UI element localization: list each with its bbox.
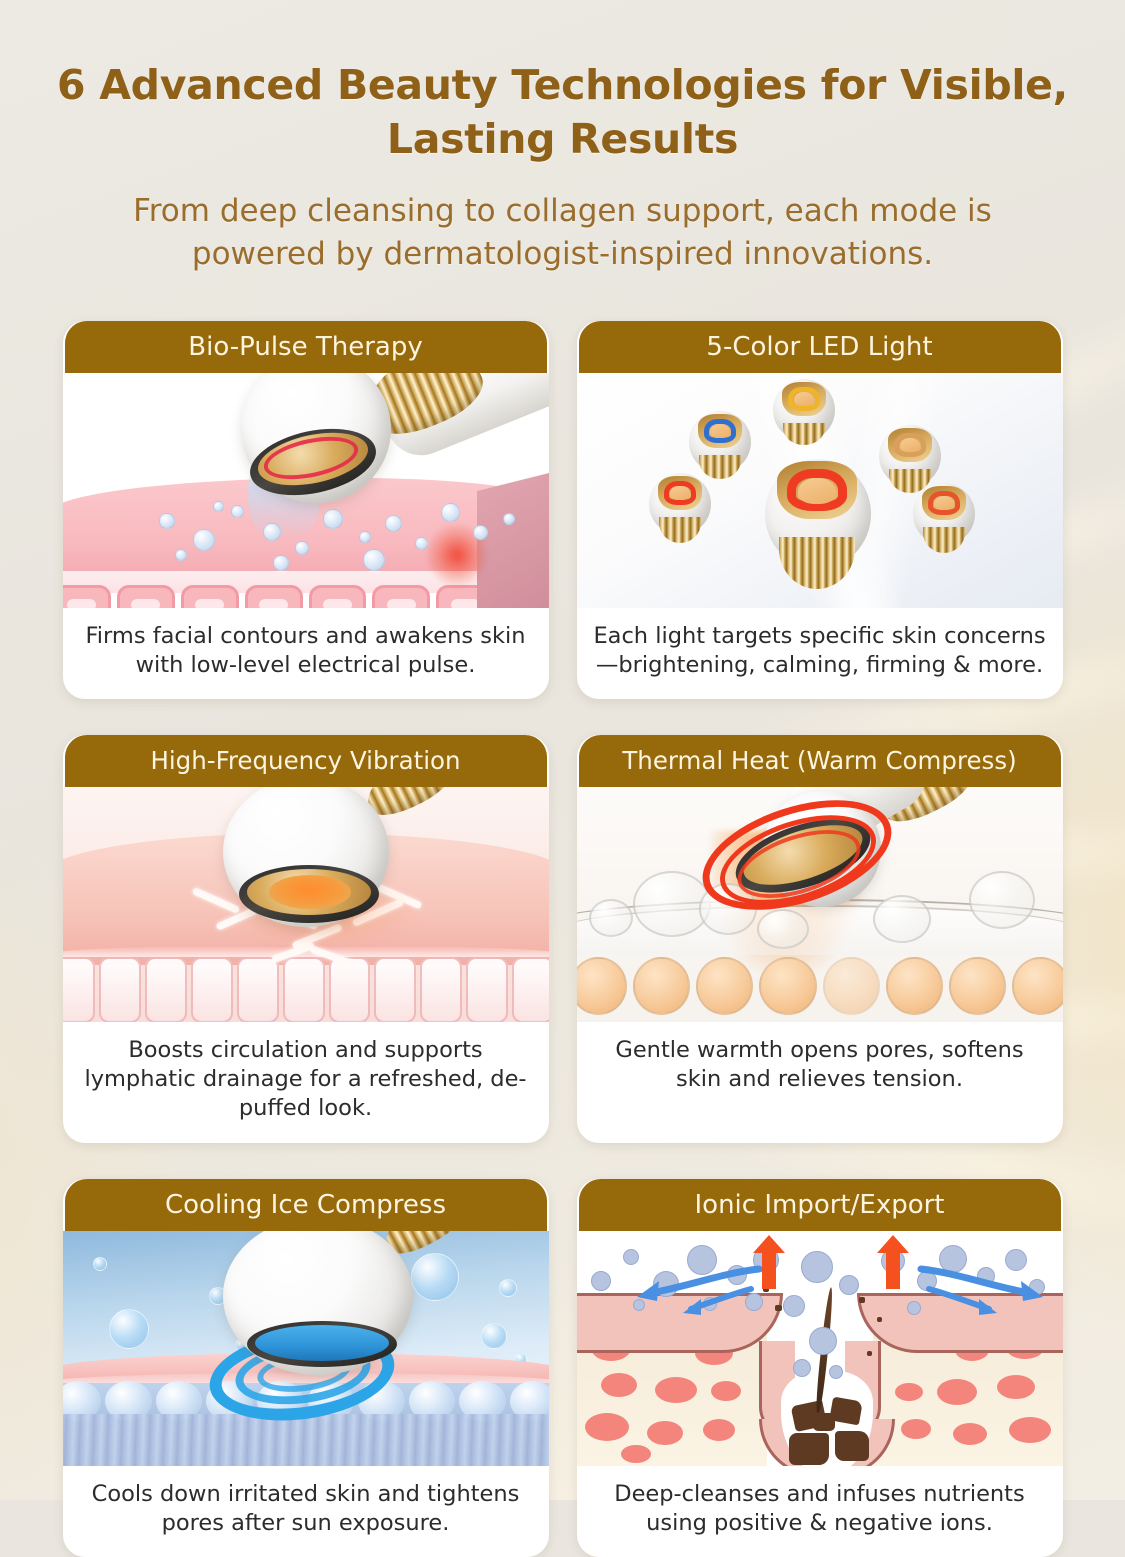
ion-flow-right-icon xyxy=(917,1259,1047,1315)
card-header-ionic-import-export: Ionic Import/Export xyxy=(579,1179,1061,1231)
card-thermal-heat[interactable]: Thermal Heat (Warm Compress) xyxy=(577,735,1063,1142)
led-head-yellow xyxy=(773,379,835,441)
card-illustration-bio-pulse-therapy xyxy=(63,373,549,608)
card-header-thermal-heat: Thermal Heat (Warm Compress) xyxy=(579,735,1061,787)
card-header-bio-pulse-therapy: Bio-Pulse Therapy xyxy=(65,321,547,373)
card-header-high-frequency-vibration: High-Frequency Vibration xyxy=(65,735,547,787)
card-title-ionic-import-export: Ionic Import/Export xyxy=(689,1192,951,1218)
card-illustration-high-frequency-vibration xyxy=(63,787,549,1022)
led-head-red-small xyxy=(649,473,711,535)
card-title-cooling-ice-compress: Cooling Ice Compress xyxy=(159,1192,452,1218)
ion-flow-left-icon xyxy=(633,1259,763,1315)
card-title-thermal-heat: Thermal Heat (Warm Compress) xyxy=(616,749,1022,774)
card-caption-bio-pulse-therapy: Firms facial contours and awakens skin w… xyxy=(63,608,549,700)
card-title-high-frequency-vibration: High-Frequency Vibration xyxy=(144,749,466,774)
card-caption-five-color-led-light: Each light targets specific skin concern… xyxy=(577,608,1063,700)
card-header-cooling-ice-compress: Cooling Ice Compress xyxy=(65,1179,547,1231)
card-caption-cooling-ice-compress: Cools down irritated skin and tightens p… xyxy=(63,1466,549,1557)
card-illustration-thermal-heat xyxy=(577,787,1063,1022)
card-caption-ionic-import-export: Deep-cleanses and infuses nutrients usin… xyxy=(577,1466,1063,1557)
export-arrow-up-icon xyxy=(877,1235,909,1289)
card-title-five-color-led-light: 5-Color LED Light xyxy=(700,334,938,360)
card-high-frequency-vibration[interactable]: High-Frequency Vibration xyxy=(63,735,549,1142)
led-head-orange xyxy=(913,483,975,545)
page-title: 6 Advanced Beauty Technologies for Visib… xyxy=(56,58,1069,166)
led-head-tan xyxy=(879,425,941,487)
technology-card-grid: Bio-Pulse Therapy xyxy=(63,321,1063,1557)
led-head-blue xyxy=(689,411,751,473)
page-header: 6 Advanced Beauty Technologies for Visib… xyxy=(0,0,1125,276)
card-ionic-import-export[interactable]: Ionic Import/Export xyxy=(577,1179,1063,1557)
card-five-color-led-light[interactable]: 5-Color LED Light xyxy=(577,321,1063,700)
card-illustration-cooling-ice-compress xyxy=(63,1231,549,1466)
led-head-main xyxy=(765,459,871,569)
glass-cell-layer xyxy=(63,957,549,1022)
card-caption-thermal-heat: Gentle warmth opens pores, softens skin … xyxy=(577,1022,1063,1114)
card-cooling-ice-compress[interactable]: Cooling Ice Compress xyxy=(63,1179,549,1557)
page-subtitle: From deep cleansing to collagen support,… xyxy=(56,190,1069,276)
card-bio-pulse-therapy[interactable]: Bio-Pulse Therapy xyxy=(63,321,549,700)
card-illustration-ionic-import-export xyxy=(577,1231,1063,1466)
export-arrow-up-icon xyxy=(753,1235,785,1289)
skin-cell-row xyxy=(63,585,549,608)
card-illustration-five-color-led-light xyxy=(577,373,1063,608)
card-header-five-color-led-light: 5-Color LED Light xyxy=(579,321,1061,373)
card-title-bio-pulse-therapy: Bio-Pulse Therapy xyxy=(182,334,428,360)
card-caption-high-frequency-vibration: Boosts circulation and supports lymphati… xyxy=(63,1022,549,1142)
